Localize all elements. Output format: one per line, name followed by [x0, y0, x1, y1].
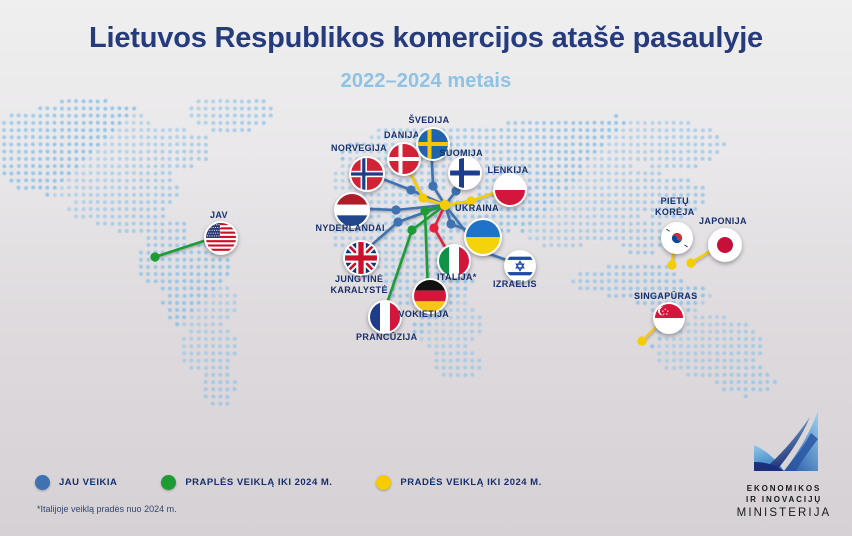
country-label: VOKIETIJA — [399, 309, 450, 320]
country-label: IZRAELIS — [493, 279, 537, 290]
hub-marker-lithuania — [440, 200, 450, 210]
connector-dot — [667, 260, 676, 269]
country-label: PIETŲKORĖJA — [655, 196, 695, 218]
connector-dot — [686, 258, 695, 267]
country-label: JUNGTINĖKARALYSTĖ — [331, 274, 388, 296]
flag-marker-jp[interactable] — [708, 228, 742, 262]
connector-dot — [391, 205, 400, 214]
flag-marker-us[interactable] — [204, 221, 238, 255]
country-label: NYDERLANDAI — [316, 223, 385, 234]
legend-label: JAU VEIKIA — [59, 477, 117, 488]
legend-dot-active — [35, 475, 50, 490]
infographic-canvas: Lietuvos Respublikos komercijos atašė pa… — [0, 0, 852, 536]
legend-label: PRADĖS VEIKLĄ IKI 2024 M. — [400, 477, 541, 488]
ministry-logo: EKONOMIKOS IR INOVACIJŲ MINISTERIJA — [732, 409, 836, 520]
legend-label: PRAPLĖS VEIKLĄ IKI 2024 M. — [185, 477, 332, 488]
country-label: PRANCŪZIJA — [356, 332, 418, 343]
connection-network — [0, 0, 852, 536]
legend-item-expand: PRAPLĖS VEIKLĄ IKI 2024 M. — [161, 475, 332, 490]
connector-dot — [418, 193, 427, 202]
country-label: DANIJA — [384, 130, 420, 141]
flag-marker-gb[interactable] — [343, 240, 379, 276]
country-label: LENKIJA — [488, 165, 529, 176]
country-label: NORVEGIJA — [331, 143, 387, 154]
country-label: JAPONIJA — [699, 216, 747, 227]
flag-marker-il[interactable] — [504, 250, 536, 282]
flag-marker-kr[interactable] — [661, 222, 693, 254]
connector-dot — [429, 223, 438, 232]
country-label: ŠVEDIJA — [409, 115, 450, 126]
country-label: SUOMIJA — [440, 148, 483, 159]
legend-dot-start — [376, 475, 391, 490]
flag-marker-fr[interactable] — [368, 300, 402, 334]
connector-dot — [428, 181, 437, 190]
country-label: ITALIJA* — [437, 272, 477, 283]
country-label: JAV — [210, 210, 228, 221]
connector-dot — [420, 206, 429, 215]
connector-dot — [407, 225, 416, 234]
country-label: UKRAINA — [455, 203, 499, 214]
flag-marker-ua[interactable] — [464, 218, 502, 256]
connector-dot — [150, 252, 159, 261]
legend-dot-expand — [161, 475, 176, 490]
flag-marker-fi[interactable] — [448, 156, 482, 190]
logo-line-3: MINISTERIJA — [732, 506, 836, 520]
flag-marker-no[interactable] — [349, 156, 385, 192]
connector-dot — [637, 336, 646, 345]
legend-footnote: *Italijoje veiklą pradės nuo 2024 m. — [37, 504, 177, 514]
ministry-logo-mark — [732, 409, 836, 483]
flag-marker-sg[interactable] — [653, 302, 685, 334]
legend-item-start: PRADĖS VEIKLĄ IKI 2024 M. — [376, 475, 541, 490]
connector-dot — [406, 185, 415, 194]
connector-dot — [393, 217, 402, 226]
logo-line-1: EKONOMIKOS — [732, 483, 836, 494]
legend-item-active: JAU VEIKIA — [35, 475, 117, 490]
country-label: SINGAPŪRAS — [634, 291, 698, 302]
connector-dot — [446, 219, 455, 228]
legend: JAU VEIKIAPRAPLĖS VEIKLĄ IKI 2024 M.PRAD… — [35, 475, 586, 490]
logo-line-2: IR INOVACIJŲ — [732, 494, 836, 505]
